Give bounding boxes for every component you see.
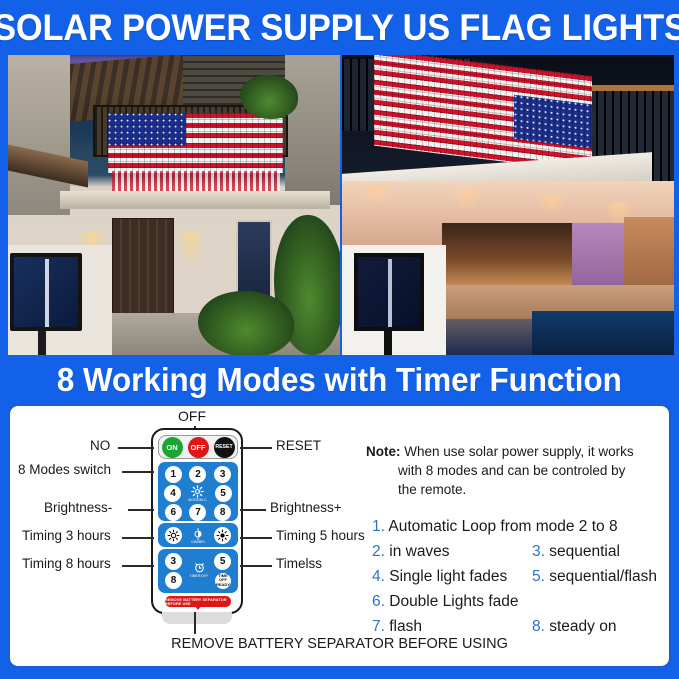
- brightness-row: DIM/BRI: [161, 527, 235, 544]
- mode-text-7: flash: [389, 618, 422, 635]
- callout-timing-8-label: Timing 8 hours: [22, 556, 111, 571]
- instructions-panel: OFF ON OFF RESET 1 2 3 4: [8, 404, 671, 668]
- foliage-palm: [240, 75, 298, 119]
- flag-drip-strands-left: [112, 171, 280, 193]
- callout-modes-switch-line: [122, 471, 154, 473]
- callout-no-line: [118, 447, 154, 449]
- page-title: SOLAR POWER SUPPLY US FLAG LIGHTS: [0, 7, 679, 49]
- alarm-clock-icon: [193, 561, 206, 574]
- swimming-pool: [532, 311, 674, 355]
- timer-3h-button[interactable]: 3: [165, 553, 182, 570]
- power-button-strip: ON OFF RESET: [158, 435, 238, 459]
- mode-num-3: 3.: [532, 543, 545, 560]
- header-banner: SOLAR POWER SUPPLY US FLAG LIGHTS: [0, 0, 679, 55]
- net-mesh: [108, 113, 283, 173]
- eave: [60, 191, 330, 209]
- modes-row-3: 4. Single light fades 5. sequential/flas…: [372, 564, 671, 589]
- brightness-up-button[interactable]: [214, 527, 231, 544]
- note-line-2: with 8 modes and can be controled by: [366, 461, 664, 480]
- remote-on-button[interactable]: ON: [162, 437, 183, 458]
- mode-item-4: 4. Single light fades: [372, 564, 532, 589]
- mode-item-5: 5. sequential/flash: [532, 564, 671, 589]
- dim-bri-button[interactable]: DIM/BRI: [191, 528, 205, 544]
- timer-pad: 3 5 8 TIME OFF READY: [158, 549, 238, 593]
- modes-row-4: 6. Double Lights fade: [372, 589, 671, 614]
- keypad-row-3: 6 7 8: [161, 504, 235, 521]
- product-photo-house-entrance: [8, 55, 340, 355]
- solar-panel-pole-left: [38, 331, 46, 355]
- mode-text-8: steady on: [549, 618, 616, 635]
- mode-num-5: 5.: [532, 568, 545, 585]
- mode-item-8: 8. steady on: [532, 614, 671, 639]
- subheader-banner: 8 Working Modes with Timer Function: [0, 357, 679, 402]
- timer-off-label: TIMER/OFF: [189, 574, 208, 578]
- callout-timing-3-line: [122, 537, 154, 539]
- mode-key-8[interactable]: 8: [214, 504, 231, 521]
- callout-brightness-plus-label: Brightness+: [270, 500, 342, 515]
- hanging-strands: [112, 171, 280, 193]
- mode-num-6: 6.: [372, 593, 385, 610]
- brightness-down-button[interactable]: [165, 527, 182, 544]
- battery-tab-arrow-icon: [194, 605, 202, 610]
- mode-key-5[interactable]: 5: [215, 485, 232, 502]
- downlight-2: [452, 189, 482, 211]
- downlight-1: [362, 185, 392, 207]
- mode-text-5: sequential/flash: [549, 568, 657, 585]
- mode-key-4[interactable]: 4: [164, 485, 181, 502]
- callout-off-label: OFF: [178, 408, 206, 424]
- callout-reset-line: [240, 447, 272, 449]
- mode-item-3: 3. sequential: [532, 539, 671, 564]
- note-line-3: the remote.: [366, 480, 664, 499]
- mode-item-2: 2. in waves: [372, 539, 532, 564]
- product-infographic: SOLAR POWER SUPPLY US FLAG LIGHTS: [0, 0, 679, 679]
- callout-no-label: NO: [90, 438, 110, 453]
- mode-text-4: Single light fades: [389, 568, 507, 585]
- timer-off-button[interactable]: TIMER/OFF: [189, 561, 209, 578]
- mode-num-2: 2.: [372, 543, 385, 560]
- callout-brightness-minus-label: Brightness-: [44, 500, 112, 515]
- mode-keypad: 1 2 3 4: [158, 462, 238, 521]
- brightness-high-icon: [216, 529, 229, 542]
- downlight-3: [537, 195, 567, 217]
- solar-panel-pole-right: [384, 331, 392, 355]
- callout-brightness-minus-line: [128, 509, 154, 511]
- product-photo-poolside-home: [342, 55, 674, 355]
- mode-item-6: 6. Double Lights fade: [372, 589, 532, 614]
- mode-text-6: Double Lights fade: [389, 593, 518, 610]
- brightness-low-icon: [167, 529, 180, 542]
- foliage-center: [198, 291, 294, 355]
- brightness-pad: DIM/BRI: [158, 523, 238, 547]
- mode-key-6[interactable]: 6: [165, 504, 182, 521]
- callout-modes-switch-label: 8 Modes switch: [18, 462, 111, 477]
- mode-num-8: 8.: [532, 618, 545, 635]
- modes-row-2: 2. in waves 3. sequential: [372, 539, 671, 564]
- remote-base: [162, 612, 232, 624]
- photo-strip: [8, 55, 674, 355]
- sconce-glow-right: [178, 231, 204, 269]
- mode-num-1: 1.: [372, 518, 385, 535]
- modes-row-5: 7. flash 8. steady on: [372, 614, 671, 639]
- callout-timing-5-label: Timing 5 hours: [276, 528, 365, 543]
- mode-mc-button[interactable]: MODE/M.C.: [188, 485, 207, 502]
- mode-key-1[interactable]: 1: [165, 466, 182, 483]
- timer-5h-button[interactable]: 5: [214, 553, 231, 570]
- mode-key-7[interactable]: 7: [189, 504, 206, 521]
- mode-text-1: Automatic Loop from mode 2 to 8: [388, 518, 617, 535]
- time-off-ready-label: TIME OFF READY: [215, 574, 231, 587]
- remote-reset-button[interactable]: RESET: [214, 437, 235, 458]
- gear-icon: [191, 485, 204, 498]
- callout-timing-3-label: Timing 3 hours: [22, 528, 111, 543]
- solar-panel-right: [354, 253, 424, 331]
- modes-list: 1. Automatic Loop from mode 2 to 8 2. in…: [372, 514, 671, 639]
- right-wall: [285, 55, 340, 205]
- mode-key-2[interactable]: 2: [189, 466, 206, 483]
- mode-key-3[interactable]: 3: [214, 466, 231, 483]
- note-block: Note: When use solar power supply, it wo…: [366, 442, 664, 499]
- mode-mc-label: MODE/M.C.: [188, 498, 207, 502]
- note-label: Note:: [366, 444, 401, 459]
- remote-control: ON OFF RESET 1 2 3 4: [151, 428, 243, 614]
- mode-text-2: in waves: [389, 543, 449, 560]
- solar-panel-left: [10, 253, 82, 331]
- modes-row-1: 1. Automatic Loop from mode 2 to 8: [372, 514, 671, 539]
- half-brightness-icon: [192, 528, 204, 540]
- time-off-ready-button[interactable]: TIME OFF READY: [215, 573, 231, 589]
- mode-num-4: 4.: [372, 568, 385, 585]
- remote-off-button[interactable]: OFF: [188, 437, 209, 458]
- callout-reset-label: RESET: [276, 438, 321, 453]
- bottom-caption-line: [194, 612, 196, 634]
- note-text-1: When use solar power supply, it works: [404, 444, 633, 459]
- keypad-row-1: 1 2 3: [161, 466, 235, 483]
- subheader-title: 8 Working Modes with Timer Function: [57, 361, 622, 399]
- dim-bri-label: DIM/BRI: [191, 540, 205, 544]
- callout-timing-8-line: [122, 565, 154, 567]
- callout-timing-5-line: [240, 537, 272, 539]
- mode-text-3: sequential: [549, 543, 620, 560]
- mode-item-7: 7. flash: [372, 614, 532, 639]
- keypad-row-2: 4: [161, 485, 235, 502]
- callout-brightness-plus-line: [240, 509, 266, 511]
- callout-timeless-line: [240, 565, 272, 567]
- callout-timeless-label: Timelss: [276, 556, 322, 571]
- mode-num-7: 7.: [372, 618, 385, 635]
- timer-8h-button[interactable]: 8: [165, 572, 182, 589]
- note-line-1: Note: When use solar power supply, it wo…: [366, 442, 664, 461]
- mode-item-1: 1. Automatic Loop from mode 2 to 8: [372, 514, 618, 539]
- us-flag-net-light-left: [108, 113, 283, 173]
